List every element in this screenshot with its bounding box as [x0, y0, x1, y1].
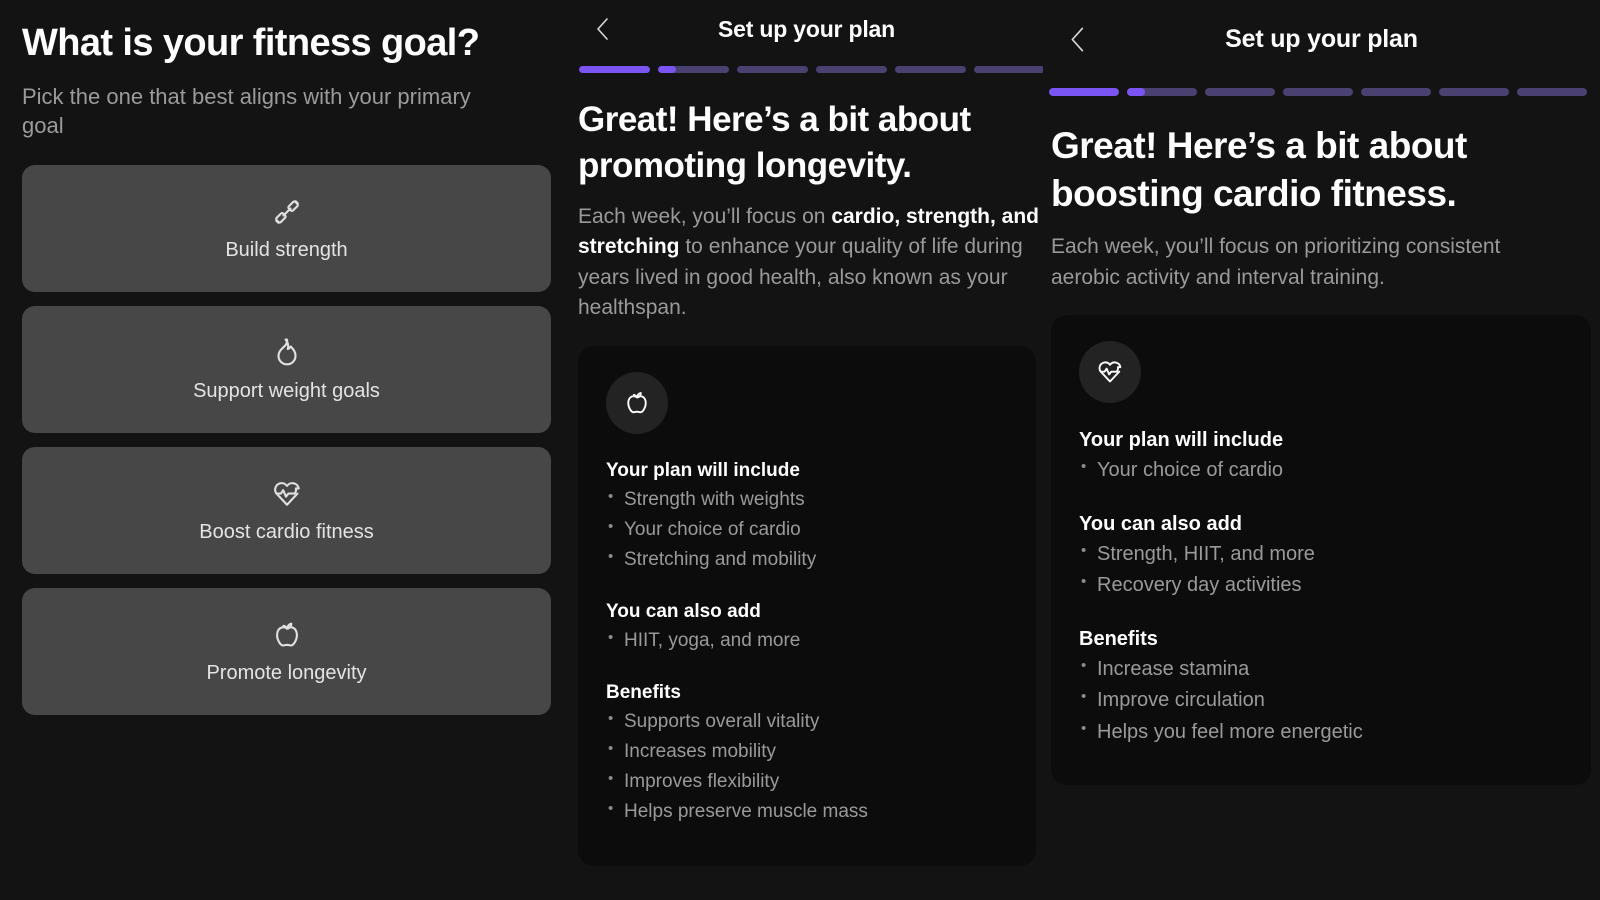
plan-desc-text: aerobic activity and interval training.: [1051, 263, 1600, 293]
plan-heading: Great! Here’s a bit about promoting long…: [578, 97, 1043, 188]
card-section-plan-includes: Your plan will include Your choice of ca…: [1079, 429, 1567, 487]
progress-segment: [974, 66, 1043, 73]
onboarding-progress-bar: [1043, 88, 1600, 96]
card-badge: [606, 372, 668, 434]
plan-header-title: Set up your plan: [718, 16, 895, 43]
goal-option-build-strength[interactable]: Build strength: [22, 165, 551, 292]
plan-summary-card: Your plan will include Your choice of ca…: [1051, 315, 1591, 785]
goal-option-boost-cardio-fitness[interactable]: Boost cardio fitness: [22, 447, 551, 574]
card-section-title: Your plan will include: [1079, 429, 1567, 452]
plan-description: Each week, you’ll focus on prioritizing …: [1051, 232, 1600, 293]
progress-segment: [658, 66, 729, 73]
plan-desc-emphasis: cardio, strength, and: [831, 205, 1039, 228]
plan-heading-line-2: boosting cardio fitness.: [1051, 173, 1456, 214]
progress-segment: [1283, 88, 1353, 96]
progress-segment: [1049, 88, 1119, 96]
progress-segment: [1361, 88, 1431, 96]
onboarding-progress-bar: [570, 66, 1043, 73]
goal-option-label: Support weight goals: [193, 380, 380, 403]
page-title: What is your fitness goal?: [22, 22, 550, 66]
chevron-left-icon: [1069, 25, 1088, 54]
card-section-plan-includes: Your plan will include Strength with wei…: [606, 460, 1012, 575]
page-subtitle: Pick the one that best aligns with your …: [22, 82, 492, 140]
progress-segment: [895, 66, 966, 73]
chevron-left-icon: [595, 16, 612, 42]
card-list-item: Increases mobility: [606, 737, 1012, 767]
plan-desc-text: Each week, you’ll focus on: [578, 205, 831, 228]
plan-summary-card: Your plan will include Strength with wei…: [578, 346, 1036, 866]
card-section-title: Benefits: [606, 682, 1012, 704]
card-section-title: Your plan will include: [606, 460, 1012, 482]
card-list-item: Your choice of cardio: [1079, 455, 1567, 487]
flame-icon: [270, 336, 304, 370]
card-badge: [1079, 341, 1141, 403]
plan-longevity-panel: Set up your plan Great! Here’s a bit abo…: [570, 0, 1043, 900]
card-list-item: Strength, HIIT, and more: [1079, 539, 1567, 571]
card-section-benefits: Benefits Supports overall vitality Incre…: [606, 682, 1012, 827]
heart-pulse-icon: [270, 477, 304, 511]
apple-icon: [270, 618, 304, 652]
dumbbell-icon: [270, 195, 304, 229]
card-list-item: Recovery day activities: [1079, 570, 1567, 602]
back-button[interactable]: [1063, 24, 1093, 54]
plan-cardio-panel: Set up your plan Great! Here’s a bit abo…: [1043, 0, 1600, 900]
goal-option-label: Boost cardio fitness: [199, 521, 374, 544]
plan-description: Each week, you’ll focus on cardio, stren…: [578, 202, 1043, 324]
app-screen: What is your fitness goal? Pick the one …: [0, 0, 1600, 900]
card-list-item: Strength with weights: [606, 485, 1012, 515]
progress-segment: [1517, 88, 1587, 96]
progress-segment: [737, 66, 808, 73]
back-button[interactable]: [588, 14, 618, 44]
progress-segment: [1127, 88, 1197, 96]
card-list-item: Supports overall vitality: [606, 707, 1012, 737]
card-list-item: Improves flexibility: [606, 767, 1012, 797]
card-list-item: HIIT, yoga, and more: [606, 626, 1012, 656]
goal-option-list: Build strength Support weight goals: [22, 165, 550, 715]
plan-desc-text: Each week, you’ll focus on prioritizing …: [1051, 232, 1600, 262]
progress-segment: [1205, 88, 1275, 96]
card-list-item: Increase stamina: [1079, 654, 1567, 686]
card-list-item: Improve circulation: [1079, 685, 1567, 717]
goal-option-promote-longevity[interactable]: Promote longevity: [22, 588, 551, 715]
plan-body: Great! Here’s a bit about promoting long…: [570, 73, 1043, 866]
goal-option-label: Build strength: [225, 239, 347, 262]
goal-option-support-weight-goals[interactable]: Support weight goals: [22, 306, 551, 433]
card-list-item: Your choice of cardio: [606, 515, 1012, 545]
apple-icon: [622, 388, 652, 418]
card-list-item: Helps preserve muscle mass: [606, 797, 1012, 827]
plan-heading-line-1: Great! Here’s a bit about: [578, 100, 971, 139]
card-list-item: Stretching and mobility: [606, 545, 1012, 575]
plan-header: Set up your plan: [570, 0, 1043, 58]
progress-segment: [816, 66, 887, 73]
plan-header: Set up your plan: [1043, 0, 1600, 78]
goal-option-label: Promote longevity: [206, 662, 366, 685]
progress-segment: [1439, 88, 1509, 96]
card-section-title: You can also add: [1079, 513, 1567, 536]
card-section-benefits: Benefits Increase stamina Improve circul…: [1079, 628, 1567, 749]
heart-pulse-icon: [1095, 357, 1125, 387]
card-section-title: Benefits: [1079, 628, 1567, 651]
card-list-item: Helps you feel more energetic: [1079, 717, 1567, 749]
card-section-also-add: You can also add Strength, HIIT, and mor…: [1079, 513, 1567, 602]
plan-desc-text: to enhance your quality of life during: [680, 235, 1023, 258]
plan-heading-line-2: promoting longevity.: [578, 146, 912, 185]
plan-heading: Great! Here’s a bit about boosting cardi…: [1051, 122, 1600, 218]
card-section-title: You can also add: [606, 601, 1012, 623]
card-section-also-add: You can also add HIIT, yoga, and more: [606, 601, 1012, 656]
plan-heading-line-1: Great! Here’s a bit about: [1051, 125, 1467, 166]
plan-body: Great! Here’s a bit about boosting cardi…: [1043, 96, 1600, 785]
plan-header-title: Set up your plan: [1225, 25, 1418, 54]
progress-segment: [579, 66, 650, 73]
plan-desc-text: years lived in good health, also known a…: [578, 263, 1043, 293]
plan-desc-emphasis: stretching: [578, 235, 680, 258]
fitness-goal-panel: What is your fitness goal? Pick the one …: [0, 0, 570, 900]
plan-desc-text: healthspan.: [578, 293, 1043, 323]
